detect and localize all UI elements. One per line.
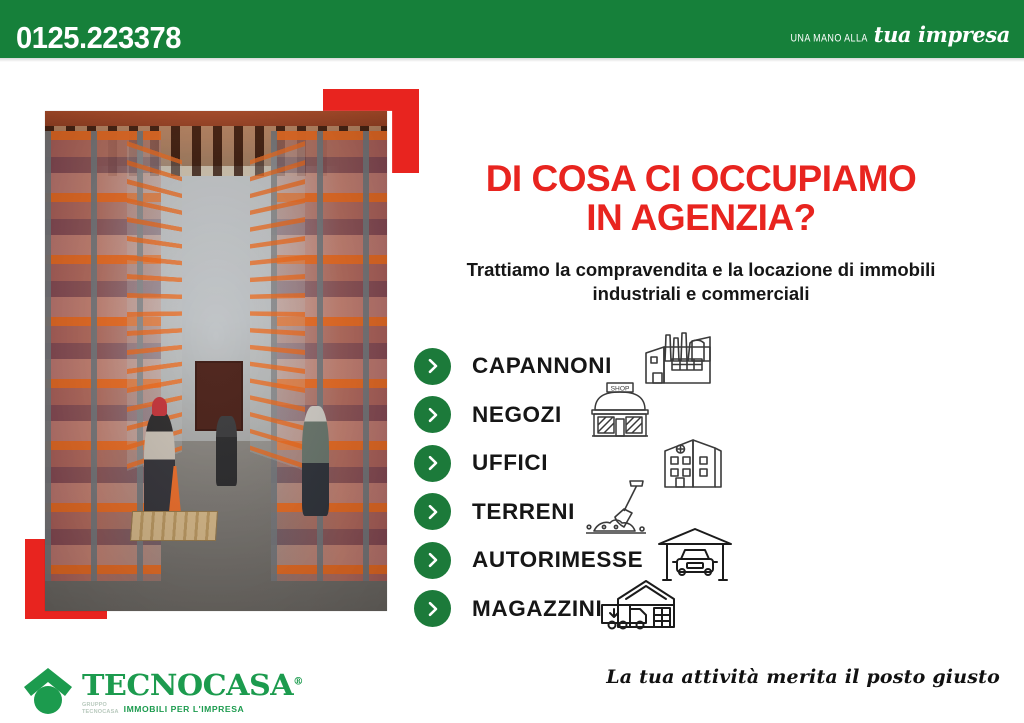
tecnocasa-house-icon (22, 666, 74, 716)
tecnocasa-wordmark: TECNOCASA® (82, 668, 303, 702)
list-item[interactable]: MAGAZZINI (414, 591, 1014, 627)
list-item-label: TERRENI (472, 499, 575, 525)
warehouse-photo (45, 111, 387, 611)
list-item[interactable]: CAPANNONI (414, 348, 1014, 384)
chevron-right-icon (414, 542, 451, 579)
list-item[interactable]: UFFICI (414, 445, 1014, 481)
registered-mark: ® (293, 676, 303, 687)
headline-block: DI COSA CI OCCUPIAMO IN AGENZIA? Trattia… (412, 160, 1012, 307)
page-title: DI COSA CI OCCUPIAMO IN AGENZIA? (412, 160, 990, 238)
chevron-right-icon (414, 348, 451, 385)
page-subtitle: Trattiamo la compravendita e la locazion… (412, 258, 990, 307)
list-item[interactable]: AUTORIMESSE (414, 542, 1014, 578)
footer-tagline: La tua attività merita il posto giusto (606, 666, 1000, 688)
tecnocasa-micro-block: GRUPPO TECNOCASA (82, 702, 119, 716)
photo-vignette (45, 111, 387, 611)
list-item[interactable]: NEGOZI SHOP (414, 397, 1014, 433)
chevron-right-icon (414, 445, 451, 482)
list-item-label: MAGAZZINI (472, 596, 602, 622)
header-tagline-script: tua impresa (874, 22, 1010, 47)
header-shadow (0, 58, 1024, 62)
header-tagline: UNA MANO ALLA tua impresa (791, 22, 1010, 47)
phone-number[interactable]: 0125.223378 (16, 20, 181, 56)
list-item-label: CAPANNONI (472, 353, 612, 379)
tecnocasa-subtitle: IMMOBILI PER L'IMPRESA (124, 704, 245, 714)
list-item[interactable]: TERRENI (414, 494, 1014, 530)
chevron-right-icon (414, 590, 451, 627)
tecnocasa-micro-line2: TECNOCASA (82, 709, 119, 716)
page-subtitle-line2: industriali e commerciali (412, 282, 990, 306)
tecnocasa-logo[interactable]: TECNOCASA® GRUPPO TECNOCASA IMMOBILI PER… (22, 666, 252, 718)
services-list: CAPANNONI (414, 348, 1014, 639)
chevron-right-icon (414, 396, 451, 433)
header-bar: 0125.223378 UNA MANO ALLA tua impresa (0, 0, 1024, 58)
tecnocasa-micro-line1: GRUPPO (82, 702, 119, 709)
list-item-label: NEGOZI (472, 402, 562, 428)
photo-block (20, 78, 420, 638)
header-tagline-small: UNA MANO ALLA (791, 32, 868, 45)
list-item-label: UFFICI (472, 450, 548, 476)
shop-icon: SHOP (582, 380, 658, 440)
page-subtitle-line1: Trattiamo la compravendita e la locazion… (412, 258, 990, 282)
tecnocasa-subtitle-row: GRUPPO TECNOCASA IMMOBILI PER L'IMPRESA (82, 702, 244, 716)
chevron-right-icon (414, 493, 451, 530)
shovel-icon (580, 475, 656, 539)
page-title-line1: DI COSA CI OCCUPIAMO (486, 158, 917, 199)
page-title-line2: IN AGENZIA? (412, 199, 990, 238)
office-building-icon (657, 429, 729, 493)
tecnocasa-brand-text: TECNOCASA (82, 668, 293, 702)
list-item-label: AUTORIMESSE (472, 547, 643, 573)
warehouse-truck-icon (596, 575, 680, 637)
poster-canvas: 0125.223378 UNA MANO ALLA tua impresa (0, 0, 1024, 723)
